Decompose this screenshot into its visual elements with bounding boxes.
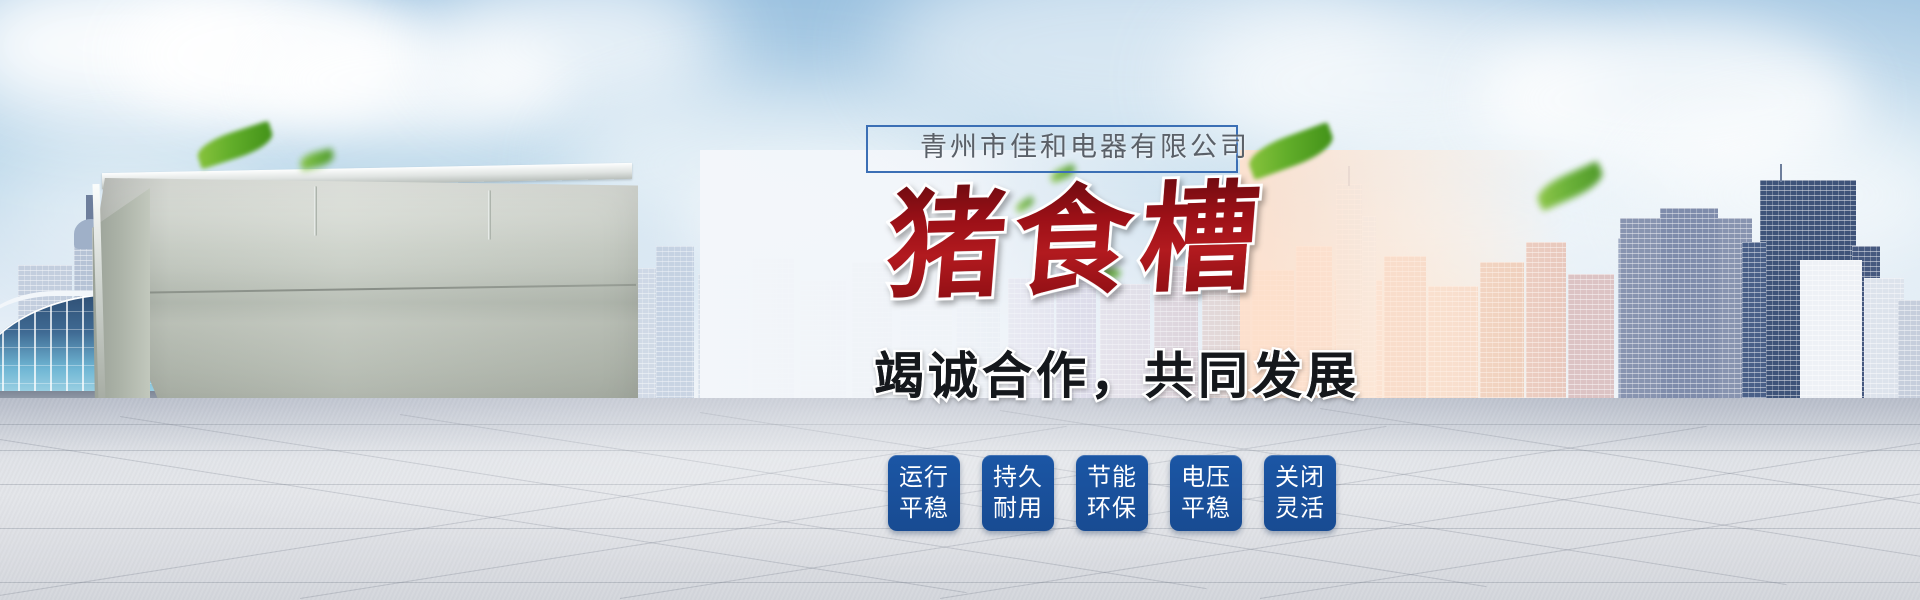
building [698,274,748,400]
building [1742,242,1766,400]
antenna [1780,164,1782,182]
building [1384,256,1426,400]
building [1898,300,1920,400]
feature-tag[interactable]: 关闭 灵活 [1264,455,1336,531]
feature-tag-line-2: 耐用 [993,493,1043,524]
feature-tag[interactable]: 运行 平稳 [888,455,960,531]
antenna [1348,166,1350,186]
building [800,280,846,400]
feature-tag-line-1: 持久 [993,462,1043,493]
building [1480,262,1524,400]
feature-tag-line-1: 运行 [899,462,949,493]
building [1568,274,1614,400]
company-name: 青州市佳和电器有限公司 [920,125,1320,164]
building [656,246,694,400]
building [1660,208,1718,400]
feature-tag-line-1: 关闭 [1275,462,1325,493]
building [1800,260,1862,400]
feature-tag-line-2: 灵活 [1275,493,1325,524]
main-title: 猪食槽 [882,171,1313,312]
subtitle: 竭诚合作，共同发展 [874,348,1360,404]
promo-banner: 青州市佳和电器有限公司 猪食槽 猪食槽 竭诚合作，共同发展 竭诚合作，共同发展 … [0,0,1920,600]
building [752,258,794,400]
feature-tag[interactable]: 电压 平稳 [1170,455,1242,531]
feature-tag[interactable]: 持久 耐用 [982,455,1054,531]
feature-tag[interactable]: 节能 环保 [1076,455,1148,531]
feature-tag-list: 运行 平稳 持久 耐用 节能 环保 电压 平稳 关闭 灵活 [888,455,1336,531]
building [1526,242,1566,400]
building [1428,286,1478,400]
feature-tag-line-1: 节能 [1087,462,1137,493]
feature-tag-line-2: 环保 [1087,493,1137,524]
feature-tag-line-2: 平稳 [1181,493,1231,524]
trough-inner-divider [314,186,317,236]
feature-tag-line-2: 平稳 [899,493,949,524]
building [1362,216,1376,400]
trough-shading [94,178,638,428]
trough-inner-divider [488,190,491,240]
feature-tag-line-1: 电压 [1181,462,1231,493]
